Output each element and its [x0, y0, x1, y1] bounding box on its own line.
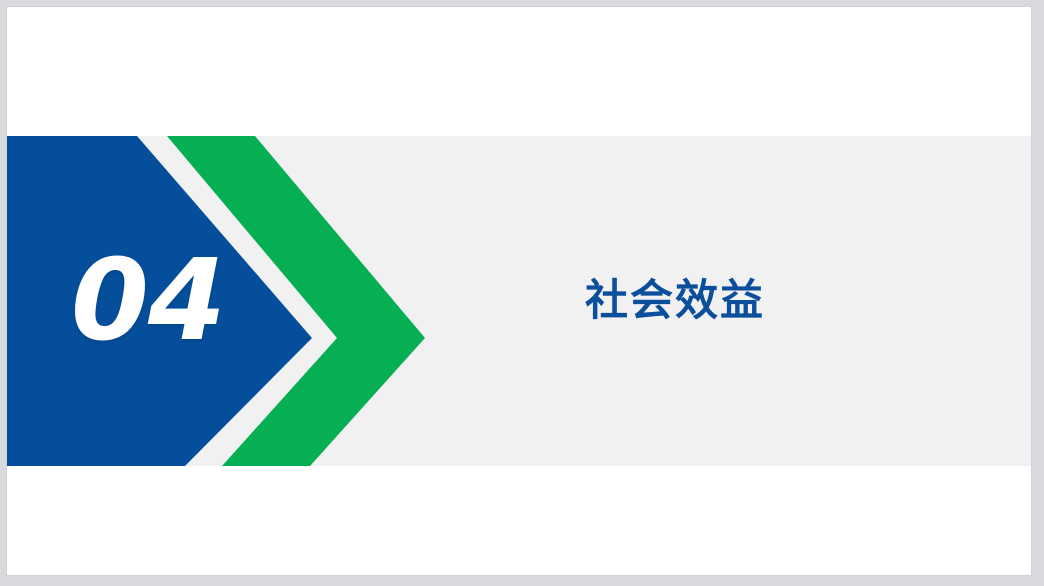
- section-title: 社会效益: [585, 136, 1015, 466]
- section-title-text: 社会效益: [585, 280, 765, 323]
- chevron-graphic-group: [7, 136, 437, 466]
- slide-canvas: 04 社会效益: [7, 7, 1031, 575]
- slide-viewport: 04 社会效益: [0, 0, 1044, 586]
